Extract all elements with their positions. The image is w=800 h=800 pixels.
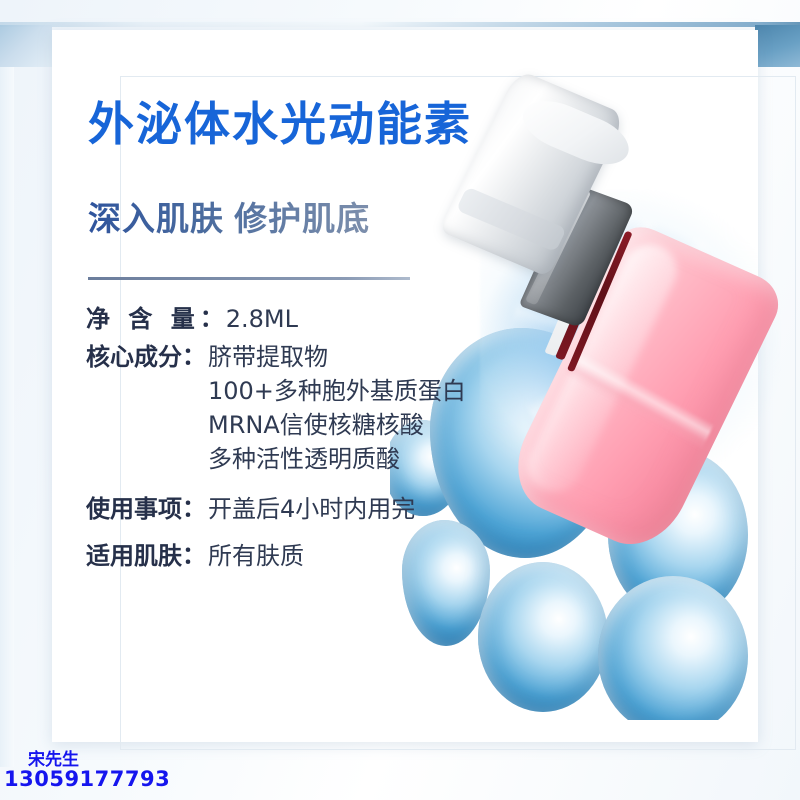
spec-row-skin-type: 适用肌肤 ： 所有肤质 xyxy=(86,539,506,573)
spec-colon-usage: ： xyxy=(182,492,206,526)
spec-list: 净 含 量 ： 2.8ML 核心成分 ： 脐带提取物 100+多种胞外基质蛋白 … xyxy=(86,302,506,581)
spec-value-skin-type: 所有肤质 xyxy=(208,539,304,573)
spec-value-line: 多种活性透明质酸 xyxy=(208,442,466,476)
page-title: 外泌体水光动能素 xyxy=(88,88,472,154)
spec-label-net-content: 净 含 量 xyxy=(86,302,200,336)
left-edge-gradient xyxy=(0,67,14,767)
watermark-phone: 13059177793 xyxy=(4,769,170,790)
spec-label-ingredients: 核心成分 xyxy=(86,340,182,374)
spec-value-usage: 开盖后4小时内用完 xyxy=(208,492,415,526)
spec-value-line: MRNA信使核糖核酸 xyxy=(208,408,466,442)
spec-value-line: 2.8ML xyxy=(226,302,298,336)
top-left-blue-block xyxy=(0,25,52,67)
page-subtitle: 深入肌肤 修护肌底 xyxy=(88,192,370,240)
top-right-blue-block xyxy=(755,25,800,67)
spec-value-line: 所有肤质 xyxy=(208,539,304,573)
spec-label-skin-type: 适用肌肤 xyxy=(86,539,182,573)
spec-value-ingredients: 脐带提取物 100+多种胞外基质蛋白 MRNA信使核糖核酸 多种活性透明质酸 xyxy=(208,340,466,476)
spec-label-usage: 使用事项 xyxy=(86,492,182,526)
divider xyxy=(88,277,410,280)
bubble-bottom-left xyxy=(478,562,608,712)
spec-row-ingredients: 核心成分 ： 脐带提取物 100+多种胞外基质蛋白 MRNA信使核糖核酸 多种活… xyxy=(86,340,506,476)
spec-colon-ingredients: ： xyxy=(182,340,206,374)
watermark: 宋先生 13059177793 xyxy=(4,752,170,791)
top-gradient-band xyxy=(0,22,800,27)
bubble-bottom-right xyxy=(598,576,748,720)
spec-colon-net-content: ： xyxy=(200,302,224,336)
spec-value-line: 脐带提取物 xyxy=(208,340,466,374)
spec-value-line: 100+多种胞外基质蛋白 xyxy=(208,374,466,408)
advertisement-image: 外泌体水光动能素 深入肌肤 修护肌底 净 含 量 ： 2.8ML 核心成分 ： … xyxy=(0,0,800,800)
spec-row-usage: 使用事项 ： 开盖后4小时内用完 xyxy=(86,492,506,526)
spec-value-net-content: 2.8ML xyxy=(226,302,298,336)
spec-row-net-content: 净 含 量 ： 2.8ML xyxy=(86,302,506,336)
spec-value-line: 开盖后4小时内用完 xyxy=(208,492,415,526)
spec-colon-skin-type: ： xyxy=(182,539,206,573)
